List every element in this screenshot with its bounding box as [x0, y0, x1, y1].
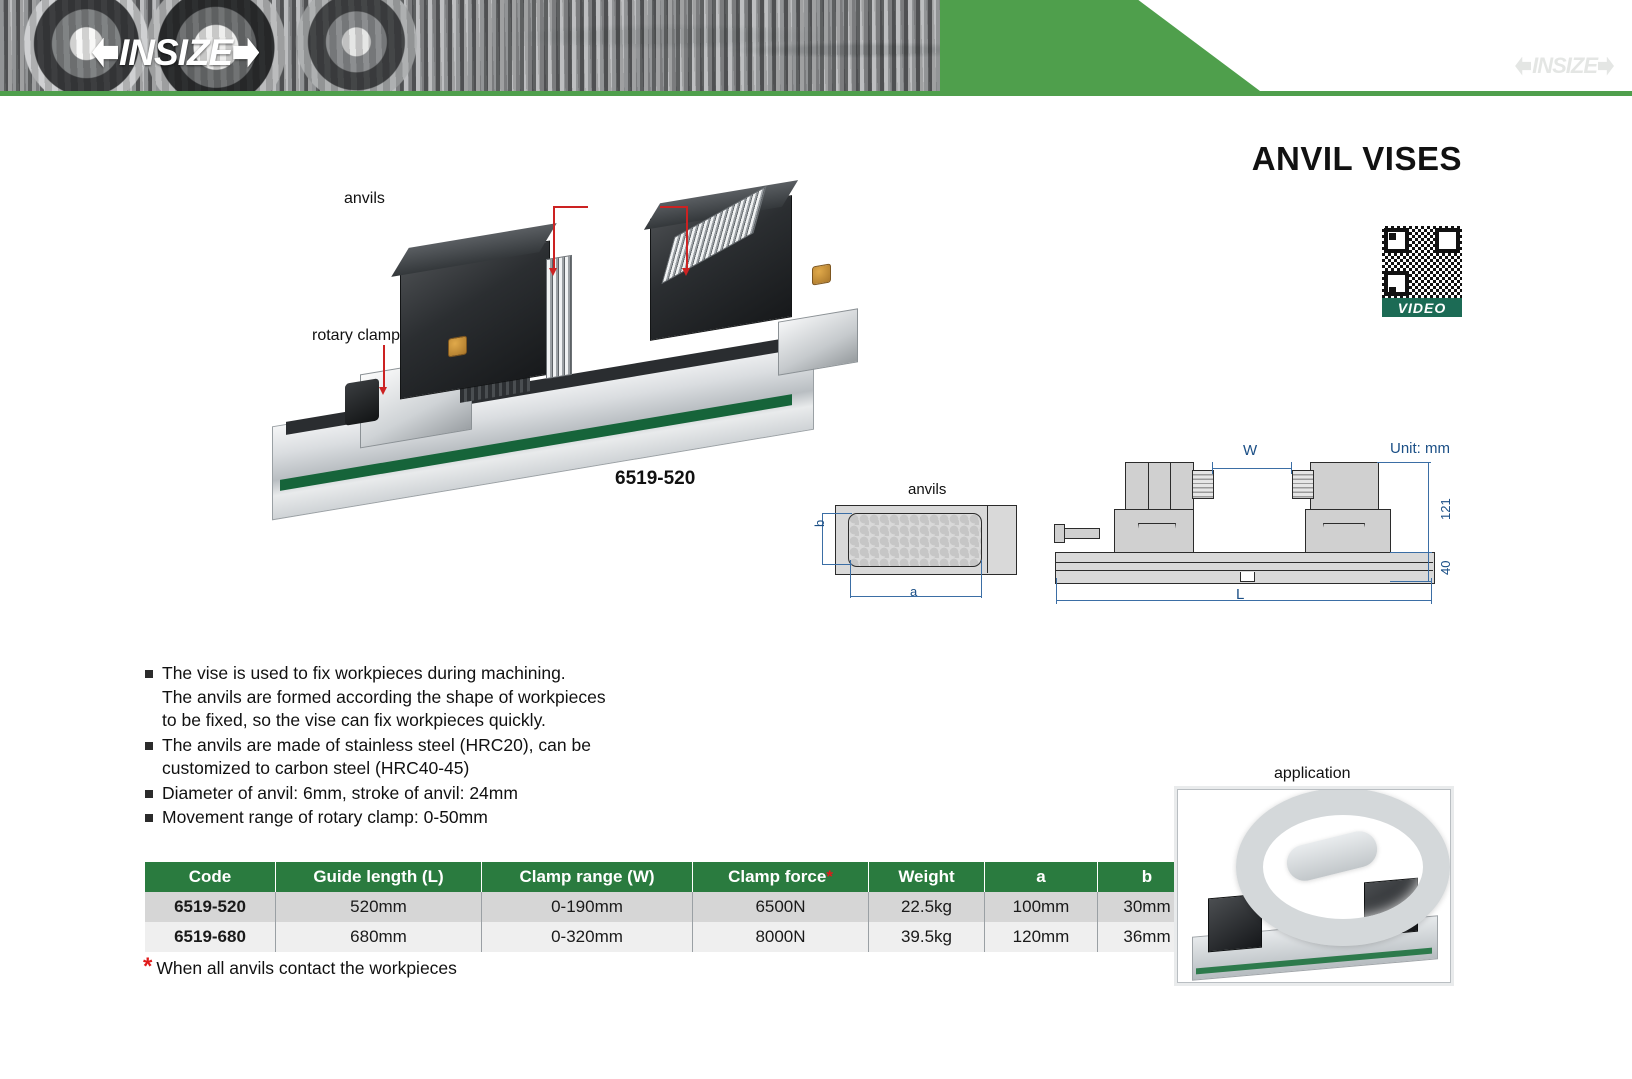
anvil-dim-a-label: a [910, 584, 917, 599]
application-title: application [1274, 765, 1351, 783]
cell-code: 6519-520 [145, 892, 276, 922]
th-a: a [985, 862, 1098, 892]
dim-40-ext-bottom [1390, 581, 1432, 582]
rotary-clamp-part [345, 378, 379, 426]
table-header-row: Code Guide length (L) Clamp range (W) Cl… [145, 862, 1196, 892]
callout-anvils-label: anvils [344, 190, 385, 208]
feature-item: The anvils are made of stainless steel (… [145, 734, 785, 781]
application-photo [1177, 789, 1451, 983]
feature-text: The anvils are made of stainless steel (… [162, 734, 591, 781]
cell-code: 6519-680 [145, 922, 276, 952]
video-qr-block[interactable]: VIDEO [1382, 226, 1462, 317]
vise-right-foot [778, 308, 858, 375]
dim-121-ext-bottom [1390, 552, 1432, 553]
anvil-drawing-pin-array [848, 513, 982, 567]
cell-a: 120mm [985, 922, 1098, 952]
drawing-left-jaw-upper [1125, 462, 1194, 511]
leader-line-anvils-left-v [553, 207, 555, 270]
drawing-handle-head [1054, 524, 1065, 543]
vise-illustration [250, 185, 890, 515]
bullet-square-icon [145, 742, 153, 750]
drawing-base-notch [1240, 572, 1255, 582]
feature-item: Diameter of anvil: 6mm, stroke of anvil:… [145, 782, 785, 806]
leader-line-anvils-right-h [660, 206, 688, 208]
clamp-force-star-icon: * [826, 867, 833, 886]
table-row: 6519-520 520mm 0-190mm 6500N 22.5kg 100m… [145, 892, 1196, 922]
dim-w-ext-left [1212, 462, 1213, 474]
brass-screw-right [812, 263, 831, 285]
dim-w-ext-right [1291, 462, 1292, 474]
th-clamp-range: Clamp range (W) [482, 862, 693, 892]
th-clamp-force-text: Clamp force [728, 867, 826, 886]
anvil-dim-b-label: b [812, 520, 827, 527]
bullet-square-icon [145, 814, 153, 822]
header-green-chevron [940, 0, 1260, 91]
cell-clamp-range: 0-190mm [482, 892, 693, 922]
th-clamp-force: Clamp force* [693, 862, 869, 892]
insize-watermark: INSIZE [1515, 55, 1614, 77]
th-guide-length: Guide length (L) [276, 862, 482, 892]
dim-121-line [1428, 462, 1429, 552]
leader-line-anvils-right-v [686, 207, 688, 270]
product-photo [250, 185, 890, 515]
page-header: INSIZE [0, 0, 1632, 95]
dim-w-line [1212, 468, 1292, 469]
leader-line-rotary-clamp [383, 345, 385, 389]
drawing-right-pins [1292, 470, 1314, 499]
brass-screw-left [448, 335, 467, 357]
dim-121-ext-top [1377, 462, 1431, 463]
logo-right-arrow-icon [233, 38, 259, 68]
qr-code-icon[interactable] [1382, 226, 1462, 298]
leader-line-anvils-left-h [553, 206, 588, 208]
cell-weight: 39.5kg [869, 922, 985, 952]
insize-logo: INSIZE [92, 34, 259, 71]
cell-clamp-force: 6500N [693, 892, 869, 922]
dim-w-label: W [1243, 442, 1257, 459]
watermark-left-arrow-icon [1515, 57, 1531, 76]
leader-arrow-anvils-left [549, 268, 557, 276]
dim-40-line [1428, 552, 1429, 582]
cell-guide-length: 520mm [276, 892, 482, 922]
anvil-drawing-split-line [987, 505, 988, 573]
drawing-right-trapezoid [1323, 523, 1365, 553]
main-dimension-drawing [1050, 440, 1470, 615]
cell-clamp-range: 0-320mm [482, 922, 693, 952]
feature-item: Movement range of rotary clamp: 0-50mm [145, 806, 785, 830]
dim-l-ext-right [1431, 578, 1432, 604]
bullet-square-icon [145, 790, 153, 798]
leader-arrow-anvils-right [682, 268, 690, 276]
logo-left-arrow-icon [92, 38, 118, 68]
th-weight: Weight [869, 862, 985, 892]
drawing-left-trapezoid [1138, 523, 1176, 552]
anvil-drawing-title: anvils [908, 481, 946, 498]
feature-text: The vise is used to fix workpieces durin… [162, 662, 606, 733]
feature-text: Movement range of rotary clamp: 0-50mm [162, 806, 488, 830]
header-green-rule [0, 91, 1632, 96]
video-badge[interactable]: VIDEO [1382, 298, 1462, 317]
footnote-text: When all anvils contact the workpieces [156, 958, 457, 979]
footnote-star-icon: * [143, 958, 152, 976]
drawing-base-line-1 [1055, 562, 1433, 563]
feature-text: Diameter of anvil: 6mm, stroke of anvil:… [162, 782, 518, 806]
anvil-dim-a-ext-left [850, 560, 851, 598]
watermark-right-arrow-icon [1598, 57, 1614, 76]
leader-arrow-rotary-clamp [379, 387, 387, 395]
feature-item: The vise is used to fix workpieces durin… [145, 662, 785, 733]
logo-text: INSIZE [118, 34, 233, 71]
drawing-handle-rod [1060, 528, 1100, 539]
cell-clamp-force: 8000N [693, 922, 869, 952]
table-footnote: * When all anvils contact the workpieces [143, 958, 457, 979]
callout-rotary-clamp-label: rotary clamp [312, 327, 400, 345]
dim-l-label: L [1236, 586, 1244, 603]
table-row: 6519-680 680mm 0-320mm 8000N 39.5kg 120m… [145, 922, 1196, 952]
specification-table: Code Guide length (L) Clamp range (W) Cl… [145, 862, 1196, 952]
dim-40-label: 40 [1438, 561, 1453, 575]
dim-l-ext-left [1056, 578, 1057, 604]
cell-a: 100mm [985, 892, 1098, 922]
cell-guide-length: 680mm [276, 922, 482, 952]
anvil-dim-b-ext-top [822, 513, 852, 514]
cell-weight: 22.5kg [869, 892, 985, 922]
anvil-dim-b-ext-bottom [822, 564, 852, 565]
bullet-square-icon [145, 670, 153, 678]
unit-label: Unit: mm [1390, 440, 1450, 457]
product-model-label: 6519-520 [615, 468, 695, 490]
th-code: Code [145, 862, 276, 892]
drawing-left-pins [1192, 470, 1214, 499]
watermark-text: INSIZE [1531, 55, 1598, 77]
page-title: ANVIL VISES [1252, 140, 1462, 178]
anvil-dim-a-ext-right [981, 560, 982, 598]
dim-121-label: 121 [1438, 498, 1453, 520]
drawing-right-jaw-upper [1310, 462, 1379, 511]
feature-list: The vise is used to fix workpieces durin… [145, 662, 785, 831]
